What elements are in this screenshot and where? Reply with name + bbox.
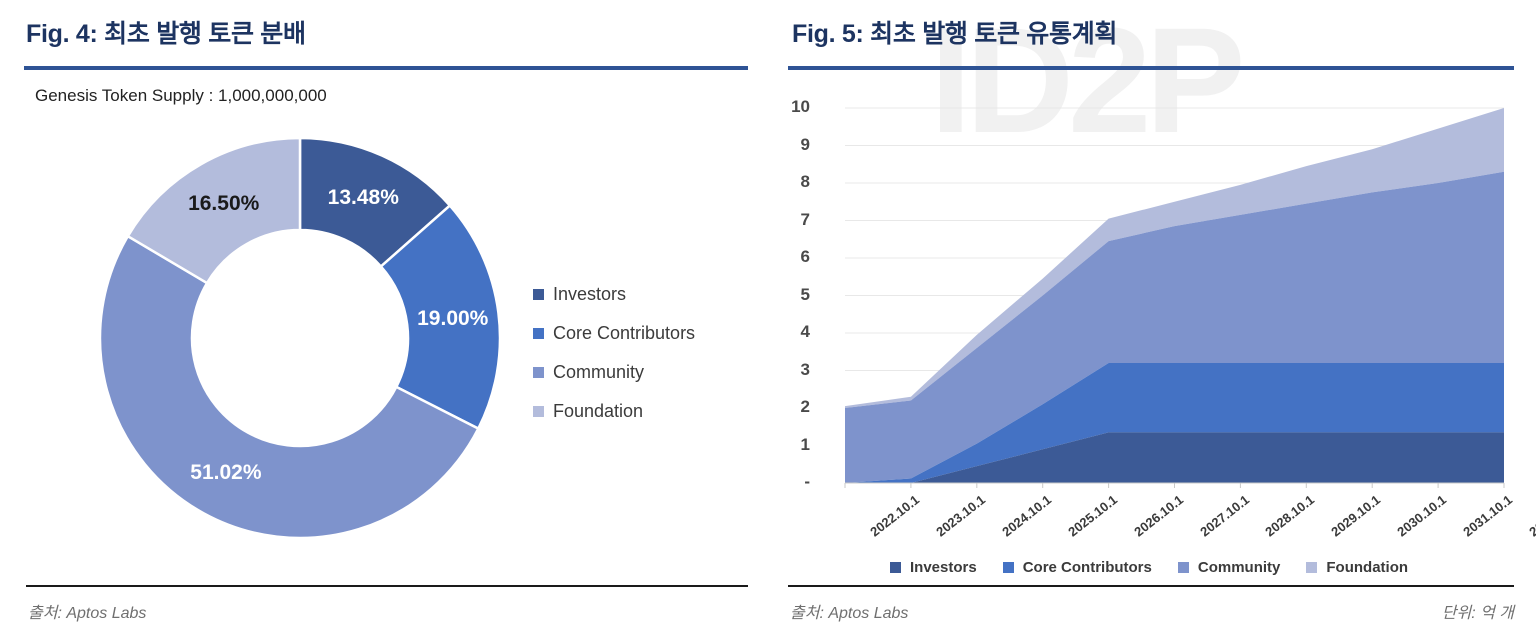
x-axis-tick: 2032.10.1 [1526,492,1536,539]
legend-swatch-community-area [1178,562,1189,573]
footer-rule-left [26,585,748,587]
legend-swatch-foundation-area [1306,562,1317,573]
donut-chart [90,128,510,548]
donut-value-community: 51.02% [190,461,261,485]
page-title-right: Fig. 5: 최초 발행 토큰 유통계획 [792,14,1117,50]
title-rule-left [24,66,748,70]
panel-token-distribution: Fig. 4: 최초 발행 토큰 분배 Genesis Token Supply… [0,0,768,639]
legend-item-investors-area: Investors [890,559,977,576]
y-axis-tick: 6 [776,247,810,267]
y-axis-tick: 3 [776,360,810,380]
y-axis-tick: 1 [776,435,810,455]
legend-label-core-contributors-area: Core Contributors [1023,559,1152,576]
area-legend: Investors Core Contributors Community Fo… [890,559,1408,576]
x-axis-tick: 2027.10.1 [1197,492,1252,539]
legend-item-core-contributors-area: Core Contributors [1003,559,1152,576]
x-axis-tick: 2024.10.1 [999,492,1054,539]
x-axis-tick: 2023.10.1 [933,492,988,539]
legend-label-core-contributors: Core Contributors [553,323,695,344]
donut-legend: Investors Core Contributors Community Fo… [533,275,695,431]
x-axis-tick: 2026.10.1 [1131,492,1186,539]
x-axis-tick: 2031.10.1 [1460,492,1515,539]
legend-swatch-investors [533,289,544,300]
x-axis-tick: 2029.10.1 [1329,492,1384,539]
legend-swatch-core-contributors [533,328,544,339]
y-axis-tick: 4 [776,322,810,342]
x-axis-tick: 2025.10.1 [1065,492,1120,539]
y-axis-tick: 10 [776,97,810,117]
title-rule-right [788,66,1514,70]
legend-swatch-investors-area [890,562,901,573]
genesis-supply-subtitle: Genesis Token Supply : 1,000,000,000 [35,86,327,106]
legend-swatch-foundation [533,406,544,417]
panel-token-release-schedule: Fig. 5: 최초 발행 토큰 유통계획 -12345678910 2022.… [768,0,1536,639]
legend-swatch-community [533,367,544,378]
x-axis-tick: 2028.10.1 [1263,492,1318,539]
legend-label-foundation: Foundation [553,401,643,422]
legend-label-community: Community [553,362,644,383]
y-axis-tick: 5 [776,285,810,305]
x-axis-tick: 2022.10.1 [867,492,922,539]
x-axis-tick: 2030.10.1 [1394,492,1449,539]
legend-label-community-area: Community [1198,559,1281,576]
y-axis-tick: 9 [776,135,810,155]
y-axis-tick: 2 [776,397,810,417]
y-axis-tick: 7 [776,210,810,230]
legend-label-investors: Investors [553,284,626,305]
legend-item-foundation: Foundation [533,392,695,431]
page-title-left: Fig. 4: 최초 발행 토큰 분배 [26,14,306,50]
unit-note-right: 단위: 억 개 [1442,599,1514,623]
donut-value-foundation: 16.50% [188,192,259,216]
legend-label-investors-area: Investors [910,559,977,576]
legend-item-core-contributors: Core Contributors [533,314,695,353]
area-chart [814,92,1514,492]
legend-item-community-area: Community [1178,559,1281,576]
source-note-right: 출처: Aptos Labs [790,599,908,623]
legend-item-community: Community [533,353,695,392]
legend-item-foundation-area: Foundation [1306,559,1408,576]
footer-rule-right [788,585,1514,587]
donut-value-investors: 13.48% [328,186,399,210]
donut-value-core-contributors: 19.00% [417,307,488,331]
legend-item-investors: Investors [533,275,695,314]
legend-swatch-core-contributors-area [1003,562,1014,573]
legend-label-foundation-area: Foundation [1326,559,1408,576]
y-axis-tick: 8 [776,172,810,192]
source-note-left: 출처: Aptos Labs [28,599,146,623]
y-axis-tick: - [776,472,810,492]
